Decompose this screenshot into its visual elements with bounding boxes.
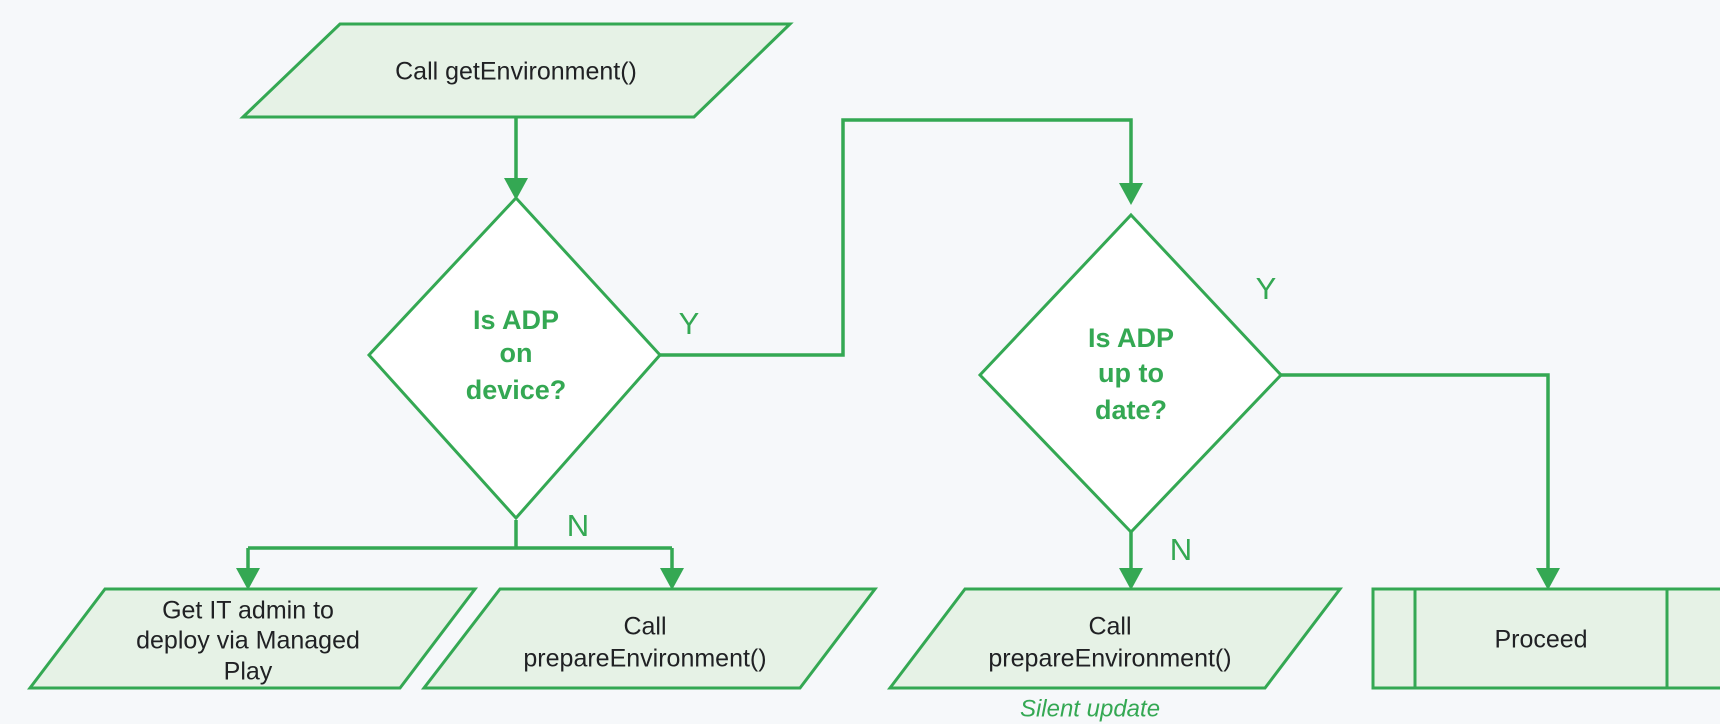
node-is-adp-on-device-line3: device? bbox=[466, 375, 567, 405]
branch-label-no-decision2: N bbox=[1170, 532, 1192, 567]
node-call-get-environment[interactable]: Call getEnvironment() bbox=[243, 24, 790, 117]
node-call-prepare-environment-left[interactable]: Call prepareEnvironment() bbox=[424, 589, 875, 688]
edge-decision2-no bbox=[1119, 530, 1143, 590]
node-call-prepare-environment-left-line2: prepareEnvironment() bbox=[523, 645, 766, 673]
node-is-adp-up-to-date-line2: up to bbox=[1098, 358, 1164, 388]
flowchart-canvas: Call getEnvironment() Is ADP on device? … bbox=[0, 0, 1720, 724]
node-is-adp-up-to-date[interactable]: Is ADP up to date? bbox=[980, 215, 1281, 532]
node-get-it-admin-deploy[interactable]: Get IT admin to deploy via Managed Play bbox=[30, 589, 475, 688]
branch-label-no-decision1: N bbox=[567, 508, 589, 543]
node-call-prepare-environment-right-line1: Call bbox=[1088, 613, 1131, 641]
node-proceed-label: Proceed bbox=[1494, 626, 1587, 654]
node-call-get-environment-label: Call getEnvironment() bbox=[395, 58, 637, 86]
edge-decision2-yes bbox=[1281, 375, 1560, 590]
node-call-prepare-environment-right[interactable]: Call prepareEnvironment() bbox=[890, 589, 1340, 688]
node-proceed[interactable]: Proceed bbox=[1373, 589, 1720, 688]
annotation-silent-update: Silent update bbox=[1020, 695, 1160, 722]
branch-label-yes-decision2: Y bbox=[1256, 271, 1277, 306]
node-get-it-admin-deploy-line1: Get IT admin to bbox=[162, 597, 334, 625]
node-call-prepare-environment-right-line2: prepareEnvironment() bbox=[988, 645, 1231, 673]
edge-start-to-decision1 bbox=[504, 118, 528, 200]
node-is-adp-on-device-line1: Is ADP bbox=[473, 305, 559, 335]
flowchart-svg: Call getEnvironment() Is ADP on device? … bbox=[0, 0, 1720, 724]
branch-label-yes-decision1: Y bbox=[679, 306, 700, 341]
node-call-prepare-environment-left-line1: Call bbox=[623, 613, 666, 641]
node-get-it-admin-deploy-line3: Play bbox=[224, 658, 273, 686]
node-is-adp-up-to-date-line3: date? bbox=[1095, 395, 1167, 425]
node-is-adp-on-device[interactable]: Is ADP on device? bbox=[369, 198, 660, 518]
node-is-adp-up-to-date-line1: Is ADP bbox=[1088, 323, 1174, 353]
node-get-it-admin-deploy-line2: deploy via Managed bbox=[136, 627, 360, 655]
edge-decision1-no bbox=[236, 520, 684, 590]
node-is-adp-on-device-line2: on bbox=[500, 338, 533, 368]
